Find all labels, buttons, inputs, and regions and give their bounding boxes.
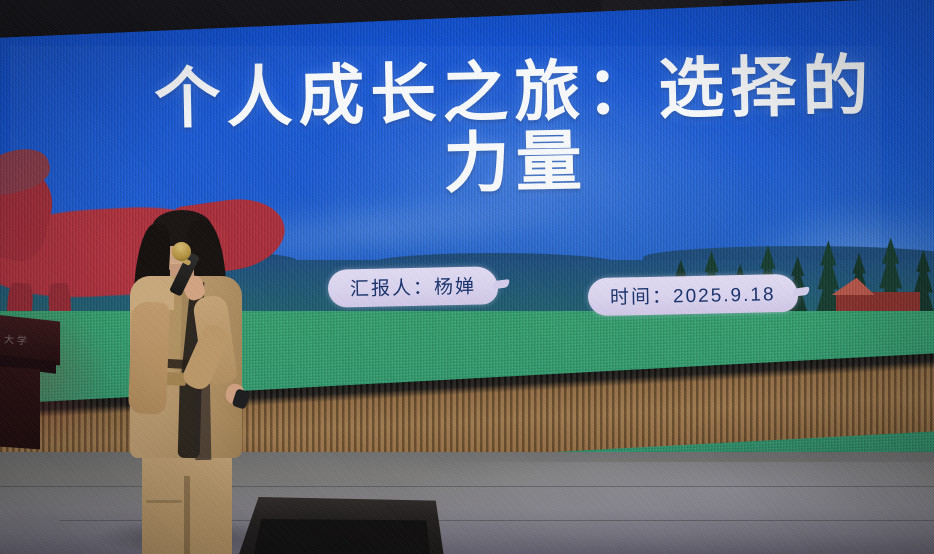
presenter-pill-text: 汇报人：杨婵 — [350, 277, 476, 301]
podium-body — [0, 367, 40, 450]
trouser-fold — [146, 500, 182, 503]
stage-presentation-photo: 个人成长之旅：选择的力量 汇报人：杨婵 时间：2025.9.18 大学 — [0, 0, 934, 554]
left-arm — [128, 301, 170, 414]
podium: 大学 — [0, 318, 60, 448]
slide-title: 个人成长之旅：选择的力量 — [119, 50, 912, 205]
date-pill-text: 时间：2025.9.18 — [610, 284, 776, 308]
trouser-seam — [184, 476, 190, 554]
floor-light-sheen — [400, 462, 934, 554]
podium-text: 大学 — [4, 331, 38, 346]
date-pill: 时间：2025.9.18 — [588, 274, 798, 316]
presenter-pill: 汇报人：杨婵 — [328, 266, 499, 308]
